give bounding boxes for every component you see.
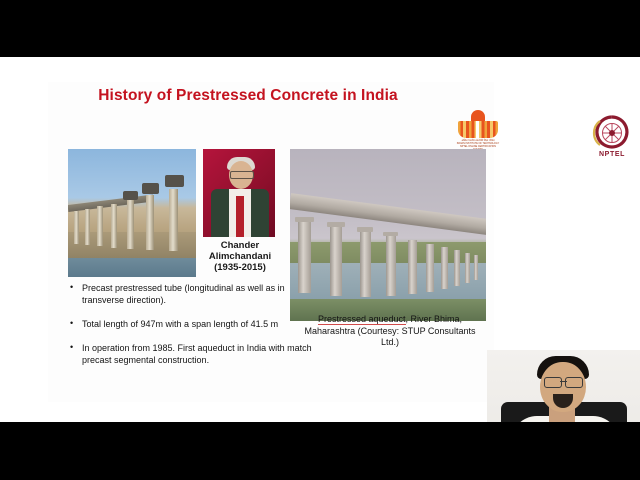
aqueduct-pier-cap [327, 222, 345, 227]
construction-pier [111, 204, 117, 248]
construction-pier-cap [165, 175, 184, 187]
image-portrait-alimchandani [203, 149, 275, 237]
construction-pier [169, 189, 178, 251]
video-frame: History of Prestressed Concrete in India… [0, 0, 640, 480]
image-caption-aqueduct: Prestressed aqueduct, River Bhima, Mahar… [300, 314, 480, 349]
page-title: History of Prestressed Concrete in India [68, 87, 428, 105]
construction-pier [127, 200, 134, 249]
lecture-slide: History of Prestressed Concrete in India… [48, 82, 494, 402]
person-name-line-1: Chander [195, 240, 285, 251]
aqueduct-deck [290, 193, 486, 236]
construction-pier [85, 209, 90, 245]
image-prestressed-aqueduct [290, 149, 486, 321]
construction-water [68, 258, 196, 277]
slide-stage: History of Prestressed Concrete in India… [0, 57, 640, 422]
list-item: Total length of 947m with a span length … [66, 318, 314, 330]
nptel-logo-label: NPTEL [586, 151, 638, 158]
construction-pier [74, 211, 79, 244]
list-item: Precast prestressed tube (longitudinal a… [66, 282, 314, 306]
construction-pier [146, 195, 154, 250]
aqueduct-pier [408, 240, 417, 294]
image-aqueduct-construction [68, 149, 196, 277]
construction-pier [97, 206, 103, 246]
aqueduct-pier [386, 236, 396, 296]
aqueduct-pier [454, 250, 460, 286]
letterbox-bottom [0, 422, 640, 480]
aqueduct-pier-cap [357, 227, 373, 232]
aqueduct-pier [465, 253, 470, 283]
letterbox-top [0, 0, 640, 57]
presenter-glasses-icon [544, 377, 583, 386]
aqueduct-pier [441, 247, 448, 289]
aqueduct-pier [474, 255, 478, 280]
nptel-logo-icon: NPTEL [586, 114, 638, 166]
aqueduct-pier [330, 226, 342, 296]
portrait-tie [236, 196, 244, 237]
construction-pier-cap [142, 183, 159, 194]
logo-book-spine [476, 121, 479, 138]
institute-logo-icon: अखिल भारतीय तकनीकी शिक्षा परिषद INDIAN I… [456, 110, 500, 148]
bullet-list: Precast prestressed tube (longitudinal a… [66, 282, 314, 378]
aqueduct-pier [360, 231, 371, 297]
portrait-glasses-icon [230, 171, 254, 179]
person-years: (1935-2015) [195, 262, 285, 273]
aqueduct-pier [426, 244, 434, 292]
person-name-line-2: Alimchandani [195, 251, 285, 262]
list-item: In operation from 1985. First aqueduct i… [66, 342, 314, 366]
aqueduct-pier-cap [383, 232, 398, 236]
construction-pier-cap [123, 191, 138, 200]
image-caption-person: Chander Alimchandani (1935-2015) [195, 240, 285, 273]
caption-highlighted-term: Prestressed aqueduct [318, 314, 406, 325]
aqueduct-pier-cap [295, 217, 314, 222]
